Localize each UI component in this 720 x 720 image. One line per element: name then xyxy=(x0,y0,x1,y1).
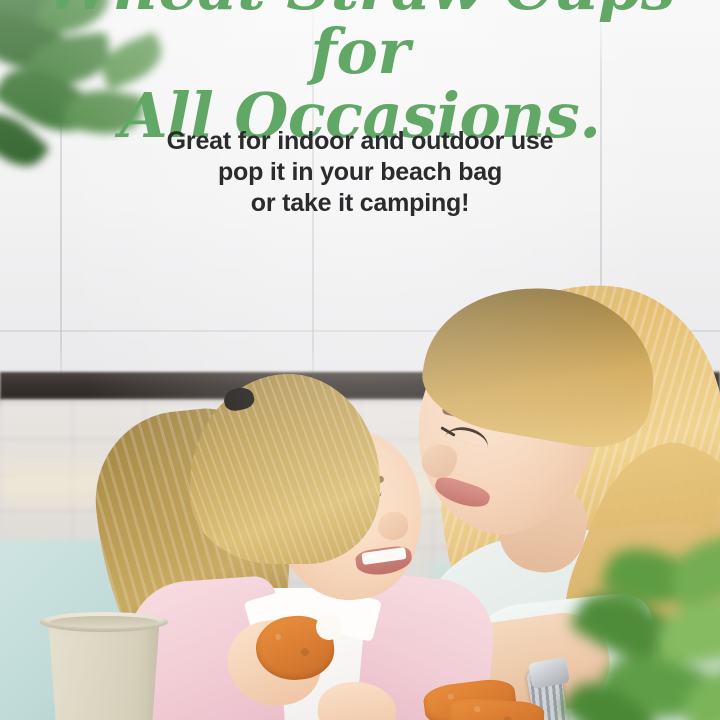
plant-bottom-right xyxy=(566,540,720,720)
wheat-straw-cup xyxy=(42,618,166,720)
promo-poster: Wheat Straw Cups for All Occasions. Grea… xyxy=(0,0,720,720)
cookie-bite-mark xyxy=(316,614,342,640)
girl-hair-top xyxy=(190,374,380,564)
cup-interior xyxy=(50,616,158,628)
subheadline: Great for indoor and outdoor use pop it … xyxy=(0,126,720,219)
